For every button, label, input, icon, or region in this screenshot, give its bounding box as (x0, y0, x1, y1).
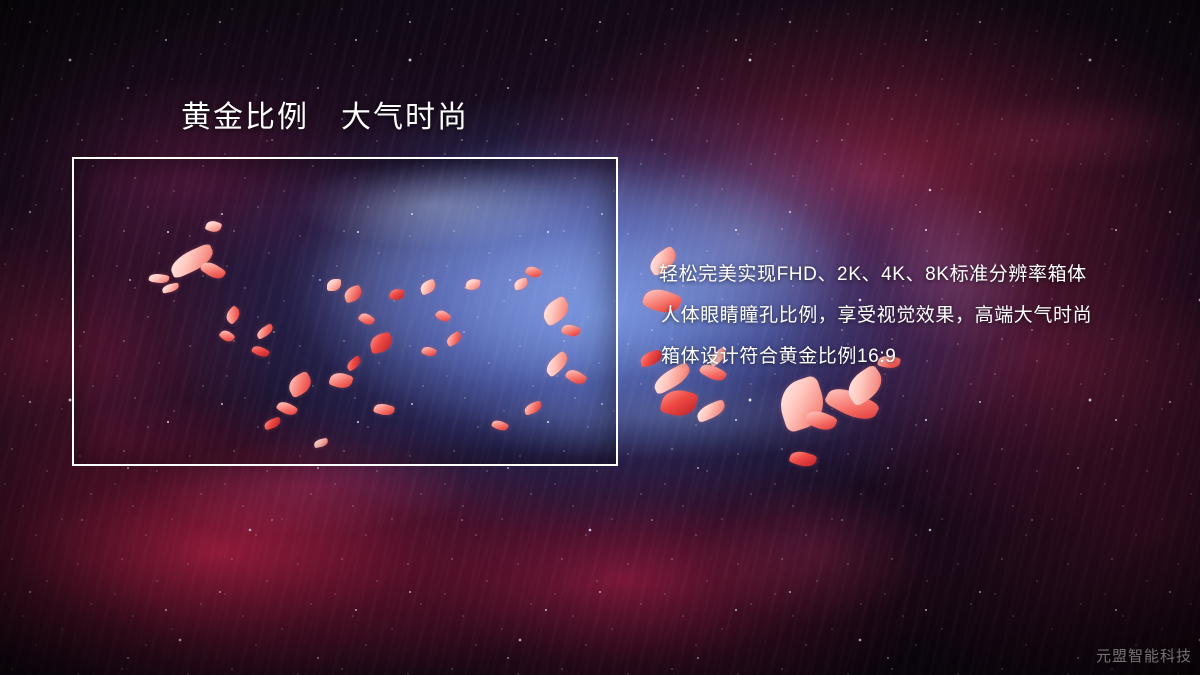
slide-canvas: 黄金比例 大气时尚 轻松完美实现FHD、2K、4K、8K标准分辨率箱体 人体眼睛… (0, 0, 1200, 675)
page-title: 黄金比例 大气时尚 (181, 101, 469, 134)
watermark-text: 元盟智能科技 (1096, 645, 1192, 666)
petal (418, 278, 437, 295)
petal (823, 381, 880, 427)
petal (539, 295, 573, 327)
petal (694, 399, 727, 423)
petal (255, 323, 275, 340)
petal (774, 374, 831, 433)
framed-image-panel (72, 157, 618, 466)
petal (218, 328, 235, 345)
petal (199, 258, 226, 282)
petal (313, 438, 328, 448)
body-line-1: 轻松完美实现FHD、2K、4K、8K标准分辨率箱体 (659, 254, 1159, 295)
petal (368, 332, 394, 355)
petal (465, 278, 480, 291)
body-line-2: 人体眼睛瞳孔比例，享受视觉效果，高端大气时尚 (659, 295, 1159, 336)
petal (434, 308, 451, 325)
panel-petals-layer (74, 159, 616, 464)
petal (327, 279, 341, 291)
petal (276, 399, 299, 419)
petal (251, 344, 270, 360)
petal (263, 417, 282, 431)
petal (788, 448, 817, 469)
petal (345, 355, 363, 372)
petal (389, 288, 405, 302)
petal (513, 277, 529, 290)
body-line-3: 箱体设计符合黄金比例16:9 (659, 336, 1159, 377)
petal (421, 345, 437, 359)
petal (564, 366, 587, 387)
petal (523, 400, 543, 416)
body-text-block: 轻松完美实现FHD、2K、4K、8K标准分辨率箱体 人体眼睛瞳孔比例，享受视觉效… (659, 254, 1159, 377)
petal (373, 401, 395, 417)
petal (285, 370, 315, 398)
petal (561, 322, 582, 339)
petal (491, 418, 509, 433)
petal (223, 305, 243, 325)
petal (525, 264, 543, 280)
petal (357, 311, 375, 328)
petal (205, 219, 223, 234)
petal (445, 331, 464, 348)
petal (328, 370, 354, 391)
petal (342, 284, 364, 303)
petal (804, 407, 838, 435)
petal (148, 272, 169, 284)
petal (659, 386, 698, 419)
petal (161, 282, 179, 293)
